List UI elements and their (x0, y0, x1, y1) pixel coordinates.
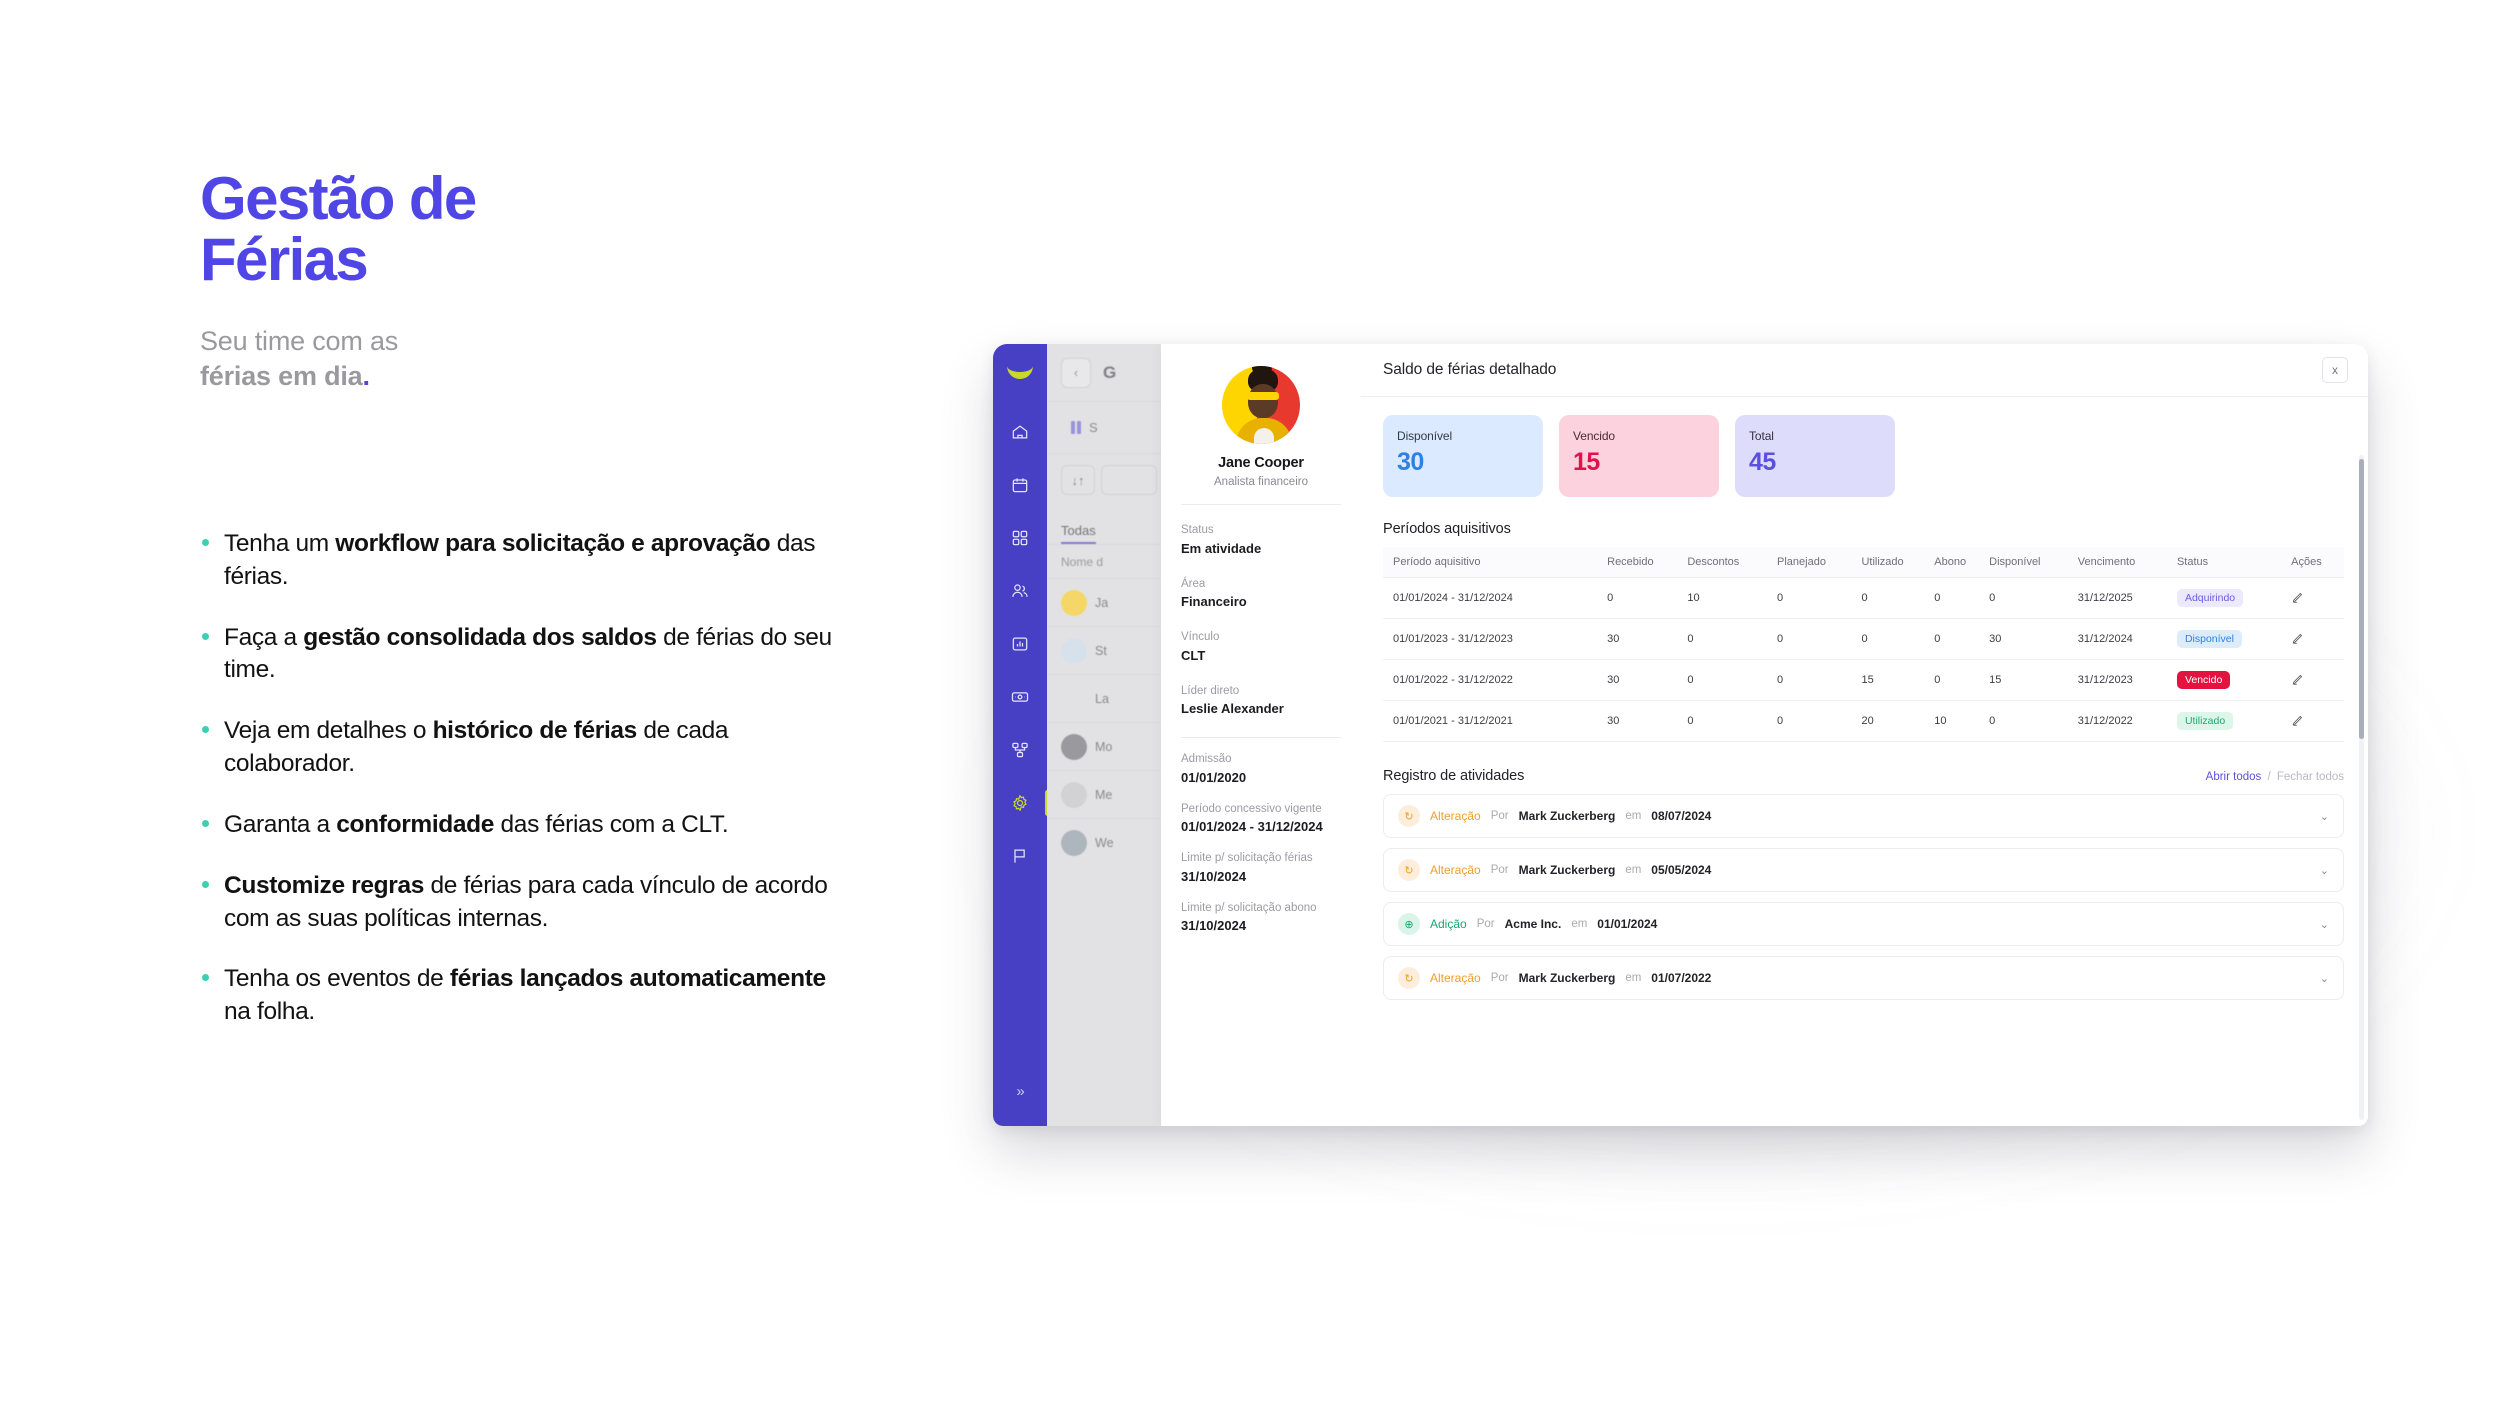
table-cell-periodo: 01/01/2022 - 31/12/2022 (1383, 660, 1607, 701)
feature-bullet-list: Tenha um workflow para solicitação e apr… (200, 528, 840, 1057)
refresh-icon: ↻ (1398, 805, 1420, 827)
activity-on-label: em (1625, 864, 1641, 876)
employee-profile-card: Jane Cooper Analista financeiro StatusEm… (1161, 344, 1361, 1126)
table-cell-planejado: 0 (1777, 701, 1861, 742)
org-chart-icon (1010, 740, 1030, 760)
status-badge: Disponível (2177, 630, 2242, 648)
activity-author: Mark Zuckerberg (1519, 809, 1616, 823)
balance-card-value: 45 (1749, 448, 1895, 477)
table-column-header: Disponível (1989, 547, 2078, 578)
profile-field: Limite p/ solicitação férias31/10/2024 (1181, 850, 1341, 887)
table-column-header: Período aquisitivo (1383, 547, 1607, 578)
modal-header: Saldo de férias detalhado x (1361, 344, 2368, 397)
status-badge-cell: Disponível (2177, 619, 2291, 660)
feature-bullet: Tenha um workflow para solicitação e apr… (200, 528, 840, 594)
bullet-text: Faça a (224, 624, 303, 651)
profile-field: Limite p/ solicitação abono31/10/2024 (1181, 900, 1341, 937)
balance-card: Total45 (1735, 415, 1895, 497)
status-badge-cell: Vencido (2177, 660, 2291, 701)
profile-field-label: Período concessivo vigente (1181, 801, 1341, 818)
activity-on-label: em (1625, 972, 1641, 984)
edit-icon (2291, 631, 2305, 645)
feature-bullet: Faça a gestão consolidada dos saldos de … (200, 622, 840, 688)
table-cell-vencimento: 31/12/2022 (2078, 701, 2177, 742)
row-actions[interactable] (2291, 660, 2344, 701)
refresh-icon: ↻ (1398, 967, 1420, 989)
close-icon[interactable]: x (2322, 357, 2348, 383)
feature-bullet: Garanta a conformidade das férias com a … (200, 809, 840, 842)
activity-log-rows: ↻AlteraçãoPorMark Zuckerbergem08/07/2024… (1383, 794, 2344, 1000)
filter-button[interactable] (1101, 465, 1157, 495)
smile-logo (1007, 366, 1033, 379)
table-cell-utilizado: 20 (1861, 701, 1934, 742)
activity-author: Mark Zuckerberg (1519, 971, 1616, 985)
avatar (1061, 782, 1087, 808)
profile-field: Líder diretoLeslie Alexander (1181, 683, 1341, 720)
tab-todas[interactable]: Todas (1061, 523, 1096, 544)
edit-icon (2291, 590, 2305, 604)
table-cell-descontos: 0 (1687, 701, 1777, 742)
balance-card-value: 15 (1573, 448, 1719, 477)
activity-on-label: em (1625, 810, 1641, 822)
bullet-emphasis: conformidade (336, 811, 494, 838)
headline-line-1: Gestão de (200, 165, 476, 232)
activity-kind: Alteração (1430, 971, 1481, 985)
vacation-balance-modal: Saldo de férias detalhado x Disponível30… (1361, 344, 2368, 1126)
table-cell-vencimento: 31/12/2023 (2078, 660, 2177, 701)
sidebar-expand-button[interactable]: » (993, 1083, 1047, 1100)
table-column-header: Planejado (1777, 547, 1861, 578)
row-actions[interactable] (2291, 701, 2344, 742)
activity-by-label: Por (1491, 864, 1509, 876)
app-window: » ‹ G S ↓↑ Todas Nome d JaStLaMoMeWe (993, 344, 2368, 1126)
table-cell-planejado: 0 (1777, 660, 1861, 701)
app-sidebar: » (993, 344, 1047, 1126)
profile-name: Jane Cooper (1181, 455, 1341, 471)
profile-field-value: 31/10/2024 (1181, 868, 1341, 887)
table-cell-descontos: 10 (1687, 578, 1777, 619)
table-cell-periodo: 01/01/2023 - 31/12/2023 (1383, 619, 1607, 660)
table-cell-abono: 0 (1934, 619, 1989, 660)
list-item-label: La (1095, 692, 1109, 706)
headline-line-2: Férias (200, 229, 860, 290)
table-column-header: Descontos (1687, 547, 1777, 578)
row-actions[interactable] (2291, 578, 2344, 619)
kpi-bars-icon (1071, 421, 1081, 434)
home-icon (1010, 422, 1030, 442)
table-header-row: Período aquisitivoRecebidoDescontosPlane… (1383, 547, 2344, 578)
activity-by-label: Por (1491, 972, 1509, 984)
profile-field-label: Área (1181, 576, 1341, 593)
acquisition-periods-table: Período aquisitivoRecebidoDescontosPlane… (1383, 547, 2344, 742)
feature-bullet: Veja em detalhes o histórico de férias d… (200, 715, 840, 781)
profile-field-value: 01/01/2020 (1181, 769, 1341, 788)
profile-field: StatusEm atividade (1181, 522, 1341, 559)
people-icon (1010, 581, 1030, 601)
activity-author: Mark Zuckerberg (1519, 863, 1616, 877)
activity-kind: Adição (1430, 917, 1467, 931)
activity-date: 01/07/2022 (1651, 971, 1711, 985)
avatar (1222, 366, 1300, 444)
table-row: 01/01/2024 - 31/12/2024010000031/12/2025… (1383, 578, 2344, 619)
activity-log-links: Abrir todos / Fechar todos (2206, 771, 2344, 783)
list-panel-title: G (1103, 363, 1116, 383)
table-cell-utilizado: 15 (1861, 660, 1934, 701)
bullet-text: Veja em detalhes o (224, 717, 433, 744)
profile-field-value: 31/10/2024 (1181, 917, 1341, 936)
activity-kind: Alteração (1430, 809, 1481, 823)
profile-field-value: Em atividade (1181, 540, 1341, 559)
bullet-emphasis: workflow para solicitação e aprovação (335, 530, 770, 557)
sidebar-item-home[interactable] (993, 405, 1047, 458)
status-badge-cell: Utilizado (2177, 701, 2291, 742)
chevron-down-icon[interactable]: ⌄ (2320, 810, 2329, 823)
profile-fields-group-2: Admissão01/01/2020Período concessivo vig… (1181, 751, 1341, 936)
bullet-emphasis: Customize regras (224, 872, 424, 899)
bullet-emphasis: férias lançados automaticamente (450, 965, 826, 992)
subheadline-line-1: Seu time com as (200, 324, 860, 359)
table-cell-abono: 0 (1934, 578, 1989, 619)
table-cell-periodo: 01/01/2021 - 31/12/2021 (1383, 701, 1607, 742)
refresh-icon: ↻ (1398, 859, 1420, 881)
table-cell-disponivel: 0 (1989, 578, 2078, 619)
table-column-header: Recebido (1607, 547, 1687, 578)
balance-card: Disponível30 (1383, 415, 1543, 497)
activity-on-label: em (1571, 918, 1587, 930)
profile-divider-1 (1181, 504, 1341, 505)
row-actions[interactable] (2291, 619, 2344, 660)
sidebar-item-payroll[interactable] (993, 670, 1047, 723)
activity-by-label: Por (1491, 810, 1509, 822)
avatar (1061, 686, 1087, 712)
table-cell-descontos: 0 (1687, 660, 1777, 701)
bullet-text: Tenha os eventos de (224, 965, 450, 992)
profile-field-label: Limite p/ solicitação férias (1181, 850, 1341, 867)
avatar (1061, 638, 1087, 664)
subheadline: Seu time com as férias em dia. (200, 324, 860, 393)
modal-scrollbar-thumb[interactable] (2359, 459, 2364, 739)
table-column-header: Status (2177, 547, 2291, 578)
modal-title: Saldo de férias detalhado (1383, 361, 1556, 379)
modal-body: Disponível30Vencido15Total45 Períodos aq… (1361, 397, 2368, 1126)
table-cell-recebido: 0 (1607, 578, 1687, 619)
table-cell-disponivel: 15 (1989, 660, 2078, 701)
status-badge-cell: Adquirindo (2177, 578, 2291, 619)
chevron-down-icon[interactable]: ⌄ (2320, 972, 2329, 985)
subheadline-line-2: férias em dia (200, 361, 363, 391)
table-cell-vencimento: 31/12/2025 (2078, 578, 2177, 619)
activity-log-row[interactable]: ↻AlteraçãoPorMark Zuckerbergem01/07/2022… (1383, 956, 2344, 1000)
activity-date: 01/01/2024 (1597, 917, 1657, 931)
table-column-header: Abono (1934, 547, 1989, 578)
table-cell-disponivel: 0 (1989, 701, 2078, 742)
table-cell-vencimento: 31/12/2024 (2078, 619, 2177, 660)
table-cell-utilizado: 0 (1861, 619, 1934, 660)
table-cell-recebido: 30 (1607, 701, 1687, 742)
profile-field: Admissão01/01/2020 (1181, 751, 1341, 788)
kpi-label: S (1089, 420, 1098, 435)
profile-field-value: CLT (1181, 647, 1341, 666)
chevron-down-icon[interactable]: ⌄ (2320, 918, 2329, 931)
profile-field-value: Leslie Alexander (1181, 700, 1341, 719)
periods-section-title: Períodos aquisitivos (1383, 521, 2344, 537)
profile-field: Período concessivo vigente01/01/2024 - 3… (1181, 801, 1341, 838)
table-body: 01/01/2024 - 31/12/2024010000031/12/2025… (1383, 578, 2344, 742)
chevron-down-icon[interactable]: ⌄ (2320, 864, 2329, 877)
table-cell-utilizado: 0 (1861, 578, 1934, 619)
table-cell-recebido: 30 (1607, 660, 1687, 701)
table-row: 01/01/2022 - 31/12/202230001501531/12/20… (1383, 660, 2344, 701)
sidebar-item-settings[interactable] (993, 776, 1047, 829)
list-item-label: St (1095, 644, 1107, 658)
status-badge: Vencido (2177, 671, 2230, 689)
edit-icon (2291, 672, 2305, 686)
bullet-text: na folha. (224, 998, 315, 1025)
activity-log-row[interactable]: ↻AlteraçãoPorMark Zuckerbergem08/07/2024… (1383, 794, 2344, 838)
close-all-link[interactable]: Fechar todos (2277, 771, 2344, 783)
flag-icon (1010, 846, 1030, 866)
profile-field-label: Líder direto (1181, 683, 1341, 700)
avatar (1061, 734, 1087, 760)
bullet-text: Garanta a (224, 811, 336, 838)
list-item-label: Mo (1095, 740, 1112, 754)
table-column-header: Vencimento (2078, 547, 2177, 578)
page-title: Gestão de Férias (200, 168, 860, 290)
profile-field-value: 01/01/2024 - 31/12/2024 (1181, 818, 1341, 837)
gear-icon (1010, 793, 1030, 813)
table-cell-disponivel: 30 (1989, 619, 2078, 660)
profile-field-label: Vínculo (1181, 629, 1341, 646)
profile-field-label: Admissão (1181, 751, 1341, 768)
activity-log-row[interactable]: ↻AlteraçãoPorMark Zuckerbergem05/05/2024… (1383, 848, 2344, 892)
subheadline-period: . (363, 361, 370, 391)
activity-date: 08/07/2024 (1651, 809, 1711, 823)
sidebar-item-org-chart[interactable] (993, 723, 1047, 776)
balance-card: Vencido15 (1559, 415, 1719, 497)
balance-card-label: Disponível (1397, 429, 1543, 443)
activity-log-title: Registro de atividades (1383, 768, 1524, 784)
feature-bullet: Tenha os eventos de férias lançados auto… (200, 963, 840, 1029)
balance-card-label: Vencido (1573, 429, 1719, 443)
bullet-emphasis: histórico de férias (433, 717, 637, 744)
activity-date: 05/05/2024 (1651, 863, 1711, 877)
sidebar-nav (993, 405, 1047, 882)
table-cell-planejado: 0 (1777, 619, 1861, 660)
edit-icon (2291, 713, 2305, 727)
profile-role: Analista financeiro (1181, 476, 1341, 488)
sidebar-item-reports[interactable] (993, 617, 1047, 670)
avatar (1061, 830, 1087, 856)
activity-by-label: Por (1477, 918, 1495, 930)
bullet-text: das férias com a CLT. (494, 811, 728, 838)
balance-card-label: Total (1749, 429, 1895, 443)
activity-kind: Alteração (1430, 863, 1481, 877)
table-row: 01/01/2023 - 31/12/20233000003031/12/202… (1383, 619, 2344, 660)
chart-icon (1010, 634, 1030, 654)
profile-field: VínculoCLT (1181, 629, 1341, 666)
table-cell-descontos: 0 (1687, 619, 1777, 660)
bullet-emphasis: gestão consolidada dos saldos (303, 624, 656, 651)
table-column-header: Ações (2291, 547, 2344, 578)
sidebar-item-calendar[interactable] (993, 458, 1047, 511)
profile-field: ÁreaFinanceiro (1181, 576, 1341, 613)
status-badge: Utilizado (2177, 712, 2233, 730)
sidebar-item-apps[interactable] (993, 511, 1047, 564)
list-item-label: We (1095, 836, 1114, 850)
table-cell-abono: 10 (1934, 701, 1989, 742)
table-column-header: Utilizado (1861, 547, 1934, 578)
profile-field-label: Status (1181, 522, 1341, 539)
balance-card-value: 30 (1397, 448, 1543, 477)
activity-log-row[interactable]: ⊕AdiçãoPorAcme Inc.em01/01/2024⌄ (1383, 902, 2344, 946)
grid-icon (1010, 528, 1030, 548)
status-badge: Adquirindo (2177, 589, 2243, 607)
profile-field-label: Limite p/ solicitação abono (1181, 900, 1341, 917)
marketing-column: Gestão de Férias Seu time com as férias … (200, 168, 860, 393)
calendar-icon (1010, 475, 1030, 495)
avatar (1061, 590, 1087, 616)
back-button[interactable]: ‹ (1061, 358, 1091, 388)
table-cell-abono: 0 (1934, 660, 1989, 701)
list-item-label: Me (1095, 788, 1112, 802)
table-row: 01/01/2021 - 31/12/202130002010031/12/20… (1383, 701, 2344, 742)
sort-button[interactable]: ↓↑ (1061, 465, 1095, 495)
table-cell-periodo: 01/01/2024 - 31/12/2024 (1383, 578, 1607, 619)
table-cell-recebido: 30 (1607, 619, 1687, 660)
profile-fields-group-1: StatusEm atividadeÁreaFinanceiroVínculoC… (1181, 522, 1341, 719)
bullet-text: Tenha um (224, 530, 335, 557)
feature-bullet: Customize regras de férias para cada vín… (200, 870, 840, 936)
activity-author: Acme Inc. (1505, 917, 1562, 931)
list-item-label: Ja (1095, 596, 1108, 610)
profile-field-value: Financeiro (1181, 593, 1341, 612)
balance-cards: Disponível30Vencido15Total45 (1383, 415, 2344, 497)
money-icon (1010, 687, 1030, 707)
sidebar-item-people[interactable] (993, 564, 1047, 617)
open-all-link[interactable]: Abrir todos (2206, 771, 2262, 783)
table-cell-planejado: 0 (1777, 578, 1861, 619)
activity-log-header: Registro de atividades Abrir todos / Fec… (1383, 768, 2344, 784)
plus-circle-icon: ⊕ (1398, 913, 1420, 935)
link-separator: / (2267, 771, 2270, 783)
sidebar-item-flags[interactable] (993, 829, 1047, 882)
profile-divider-2 (1181, 737, 1341, 738)
